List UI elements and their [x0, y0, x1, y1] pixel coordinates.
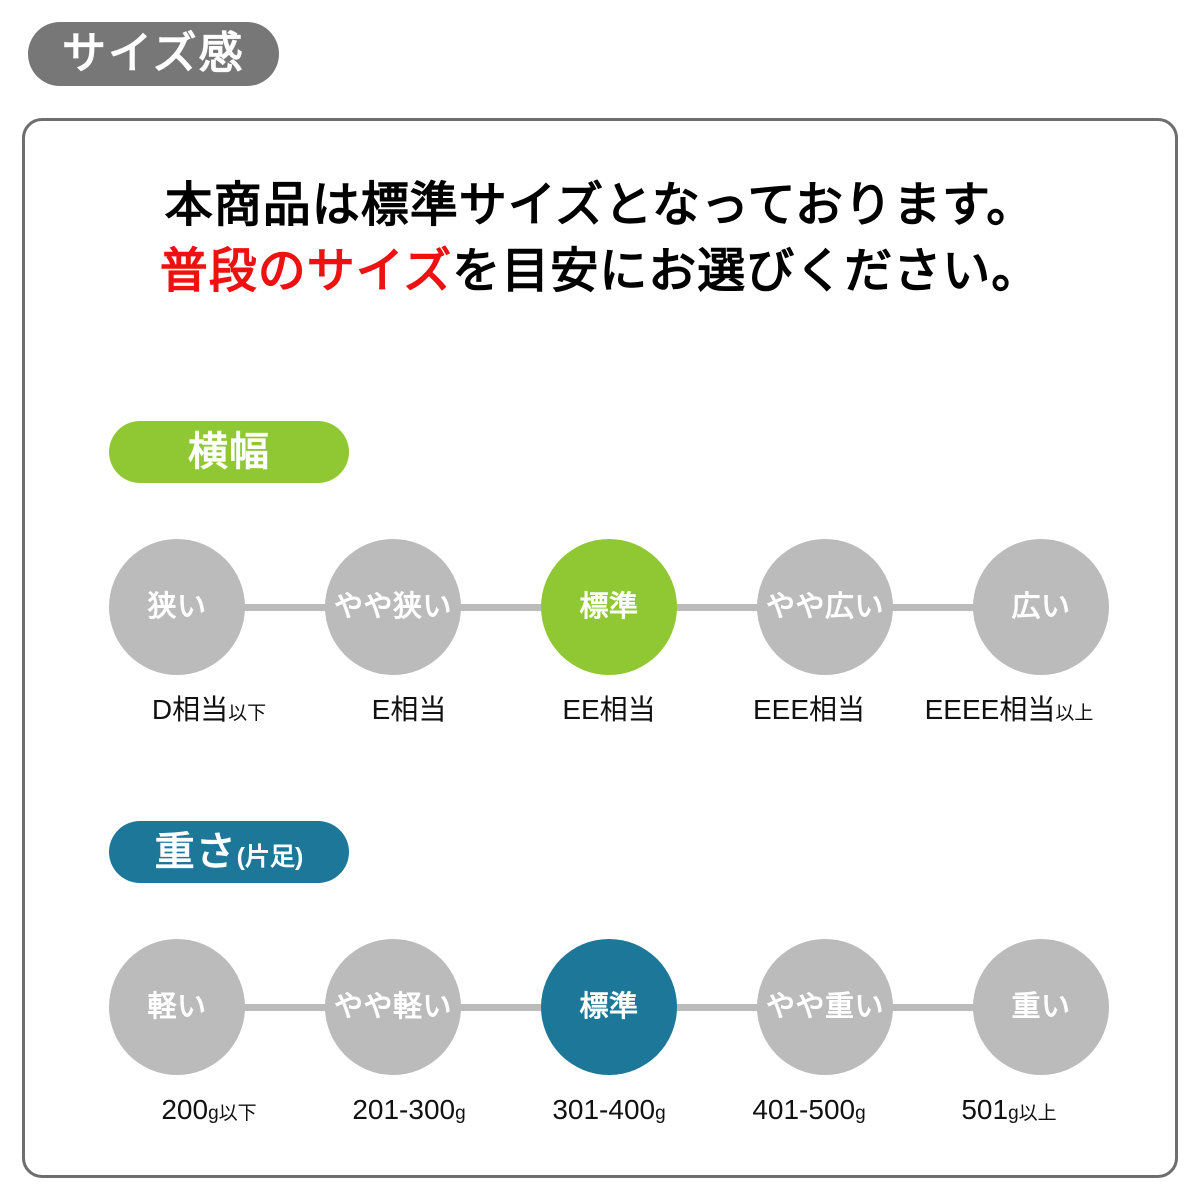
section-badge-weight: 重さ (片足) [109, 821, 349, 883]
weight-scale: 軽い やや軽い 標準 やや重い 重い [109, 939, 1109, 1075]
lead-line-1: 本商品は標準サイズとなっております。 [25, 173, 1175, 239]
weight-node-4[interactable]: 重い [973, 939, 1109, 1075]
width-connector-2 [671, 604, 763, 611]
width-caption-3-main: EEE相当 [753, 694, 865, 725]
header-badge-label: サイズ感 [62, 32, 245, 76]
weight-connector-0 [239, 1004, 331, 1011]
weight-connector-1 [455, 1004, 547, 1011]
weight-caption-2-sub: g [655, 1103, 666, 1124]
width-caption-4: EEEE相当以上 [909, 696, 1109, 724]
width-caption-2: EE相当 [509, 696, 709, 724]
lead-line-2: 普段のサイズを目安にお選びください。 [25, 239, 1175, 305]
lead-emphasis: 普段のサイズ [160, 245, 453, 298]
lead-copy: 本商品は標準サイズとなっております。 普段のサイズを目安にお選びください。 [25, 173, 1175, 305]
content-card: 本商品は標準サイズとなっております。 普段のサイズを目安にお選びください。 横幅… [22, 118, 1178, 1178]
section-badge-width-label: 横幅 [188, 421, 270, 483]
weight-node-4-label: 重い [1011, 993, 1070, 1022]
width-node-3-label: やや広い [766, 593, 884, 622]
weight-node-0[interactable]: 軽い [109, 939, 245, 1075]
width-caption-1: E相当 [309, 696, 509, 724]
lead-line-2-rest: を目安にお選びください。 [452, 245, 1040, 298]
weight-caption-2-main: 301-400 [552, 1094, 655, 1125]
weight-node-2[interactable]: 標準 [541, 939, 677, 1075]
weight-caption-4-sub: g以上 [1008, 1103, 1057, 1124]
section-badge-weight-sub: (片足) [237, 826, 304, 888]
weight-connector-3 [887, 1004, 979, 1011]
width-node-2[interactable]: 標準 [541, 539, 677, 675]
size-guide-infographic: サイズ感 本商品は標準サイズとなっております。 普段のサイズを目安にお選びくださ… [0, 0, 1200, 1200]
width-caption-2-main: EE相当 [562, 694, 655, 725]
weight-caption-3-sub: g [855, 1103, 866, 1124]
weight-caption-1-main: 201-300 [352, 1094, 455, 1125]
weight-caption-3-main: 401-500 [752, 1094, 855, 1125]
weight-caption-0-sub: g以下 [208, 1103, 257, 1124]
weight-caption-3: 401-500g [709, 1096, 909, 1124]
width-node-3[interactable]: やや広い [757, 539, 893, 675]
weight-caption-2: 301-400g [509, 1096, 709, 1124]
width-node-0[interactable]: 狭い [109, 539, 245, 675]
weight-caption-0-main: 200 [161, 1094, 208, 1125]
width-connector-3 [887, 604, 979, 611]
width-caption-0: D相当以下 [109, 696, 309, 724]
weight-caption-4-main: 501 [961, 1094, 1008, 1125]
width-node-4[interactable]: 広い [973, 539, 1109, 675]
weight-caption-4: 501g以上 [909, 1096, 1109, 1124]
weight-node-1[interactable]: やや軽い [325, 939, 461, 1075]
width-caption-4-sub: 以上 [1055, 703, 1093, 724]
width-caption-1-main: E相当 [372, 694, 447, 725]
weight-node-2-label: 標準 [579, 993, 638, 1022]
weight-caption-1-sub: g [455, 1103, 466, 1124]
width-connector-1 [455, 604, 547, 611]
section-badge-width: 横幅 [109, 421, 349, 483]
width-connector-0 [239, 604, 331, 611]
width-caption-0-main: D相当 [152, 694, 228, 725]
width-node-2-label: 標準 [579, 593, 638, 622]
width-caption-0-sub: 以下 [228, 703, 266, 724]
weight-node-0-label: 軽い [147, 993, 206, 1022]
width-captions: D相当以下 E相当 EE相当 EEE相当 EEEE相当以上 [109, 696, 1109, 724]
weight-caption-1: 201-300g [309, 1096, 509, 1124]
weight-node-3-label: やや重い [766, 993, 884, 1022]
width-node-1[interactable]: やや狭い [325, 539, 461, 675]
weight-connector-2 [671, 1004, 763, 1011]
weight-node-3[interactable]: やや重い [757, 939, 893, 1075]
section-badge-weight-label: 重さ [155, 821, 237, 883]
weight-caption-0: 200g以下 [109, 1096, 309, 1124]
width-caption-3: EEE相当 [709, 696, 909, 724]
width-node-0-label: 狭い [147, 593, 206, 622]
width-scale: 狭い やや狭い 標準 やや広い 広い [109, 539, 1109, 675]
width-node-4-label: 広い [1011, 593, 1070, 622]
width-node-1-label: やや狭い [334, 593, 452, 622]
weight-node-1-label: やや軽い [334, 993, 452, 1022]
weight-captions: 200g以下 201-300g 301-400g 401-500g 501g以上 [109, 1096, 1109, 1124]
width-caption-4-main: EEEE相当 [925, 694, 1056, 725]
header-badge: サイズ感 [28, 22, 279, 86]
